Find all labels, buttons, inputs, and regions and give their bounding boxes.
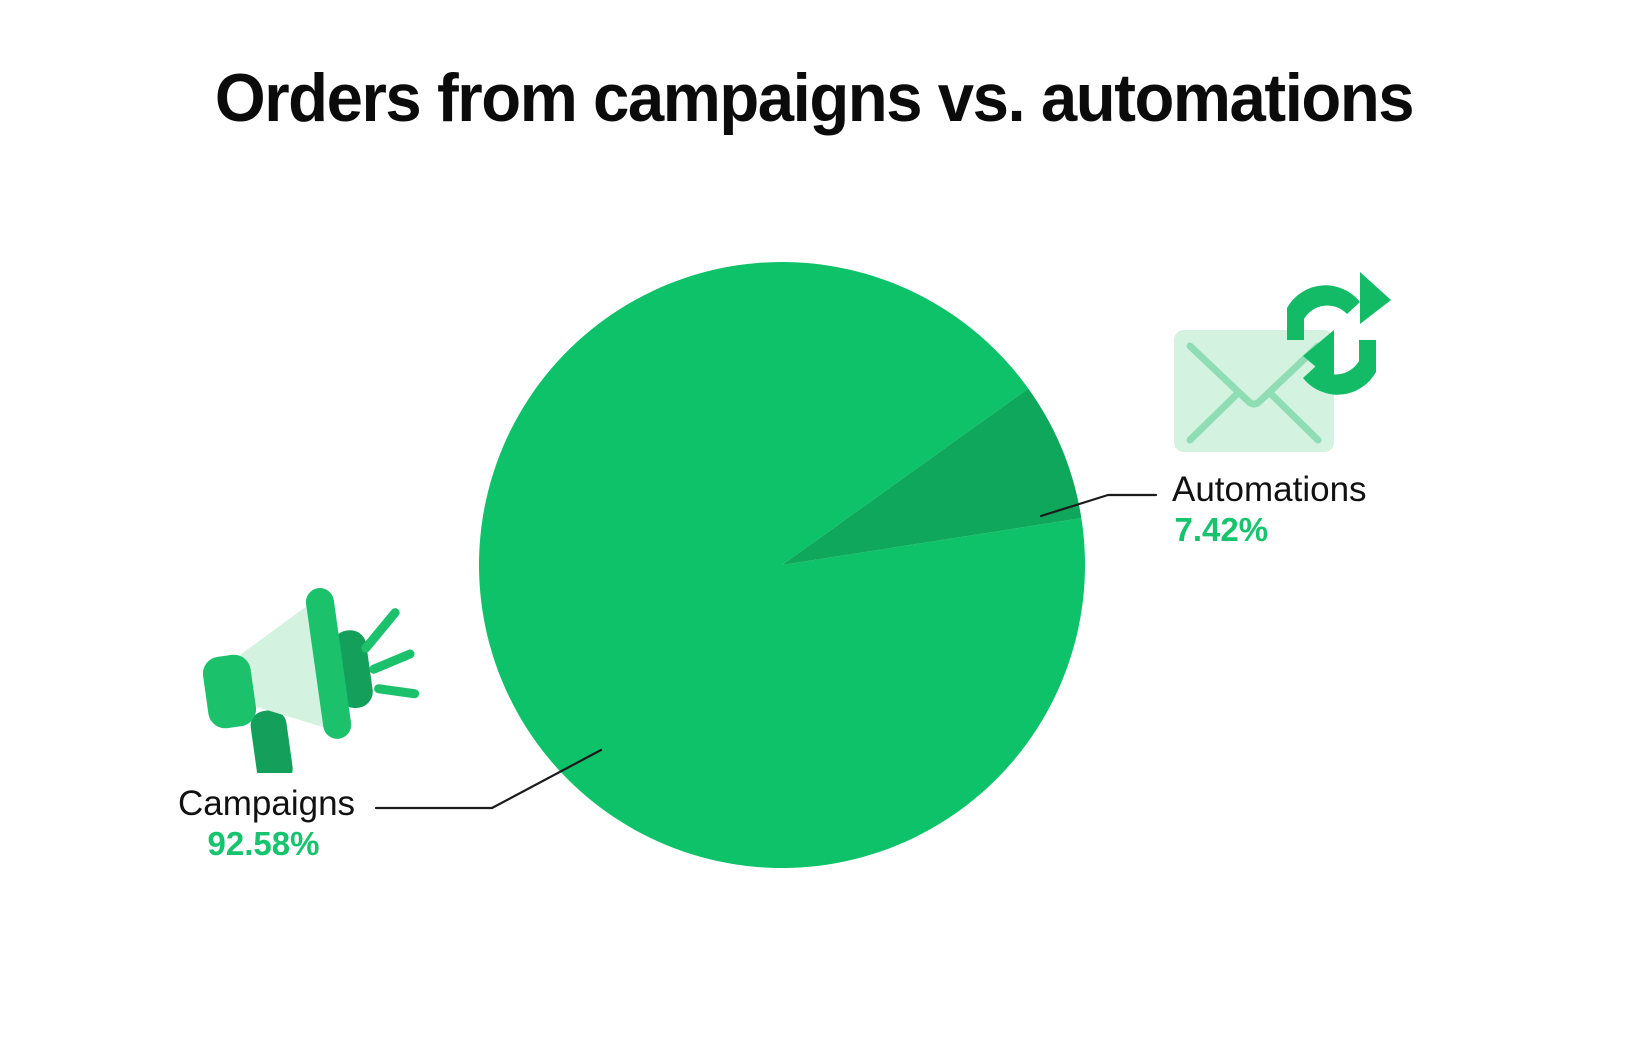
label-automations-value: 7.42% bbox=[1172, 509, 1367, 552]
label-campaigns-name: Campaigns bbox=[178, 784, 355, 823]
chart-canvas: Orders from campaigns vs. automations bbox=[0, 0, 1628, 1038]
label-campaigns-value: 92.58% bbox=[178, 823, 355, 866]
pie-chart bbox=[0, 0, 1628, 1038]
label-automations-name: Automations bbox=[1172, 470, 1367, 509]
megaphone-handle bbox=[249, 708, 295, 773]
envelope-sync-icon bbox=[1164, 262, 1399, 467]
pie-slice-campaigns[interactable] bbox=[479, 262, 1085, 868]
label-automations: Automations 7.42% bbox=[1172, 470, 1367, 552]
megaphone-icon bbox=[196, 578, 426, 778]
label-campaigns: Campaigns 92.58% bbox=[178, 784, 355, 866]
